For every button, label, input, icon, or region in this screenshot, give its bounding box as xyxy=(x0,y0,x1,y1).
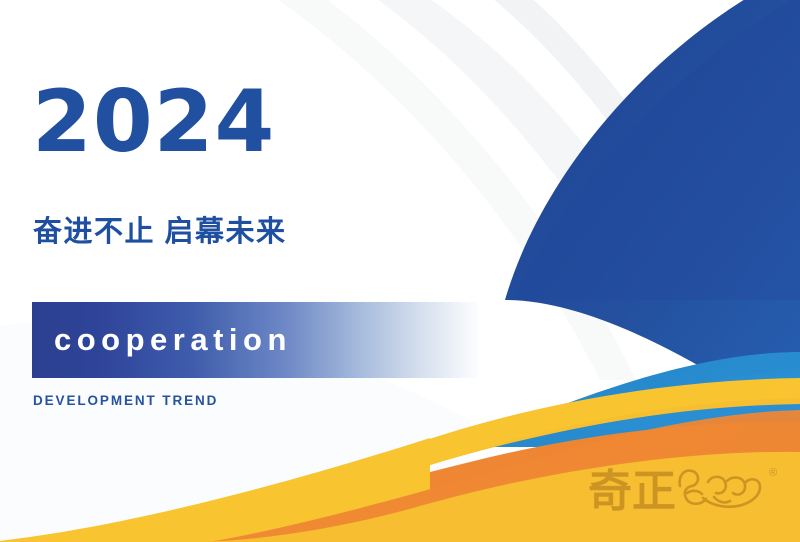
page-title-year: 2024 xyxy=(32,79,275,165)
brand-watermark-logo: 奇正 ® xyxy=(588,452,788,526)
watermark-script-icon xyxy=(680,471,760,507)
slogan-text: 奋进不止 启幕未来 xyxy=(33,216,287,249)
banner-word-cooperation: cooperation xyxy=(54,322,292,358)
watermark-svg: 奇正 ® xyxy=(588,452,788,526)
subtitle-development-trend: DEVELOPMENT TREND xyxy=(33,393,218,408)
watermark-chinese-text: 奇正 xyxy=(588,466,676,517)
watermark-registered-mark: ® xyxy=(769,467,777,479)
poster-canvas: 2024 奋进不止 启幕未来 cooperation DEVELOPMENT T… xyxy=(0,0,800,542)
cooperation-banner: cooperation xyxy=(32,302,478,378)
